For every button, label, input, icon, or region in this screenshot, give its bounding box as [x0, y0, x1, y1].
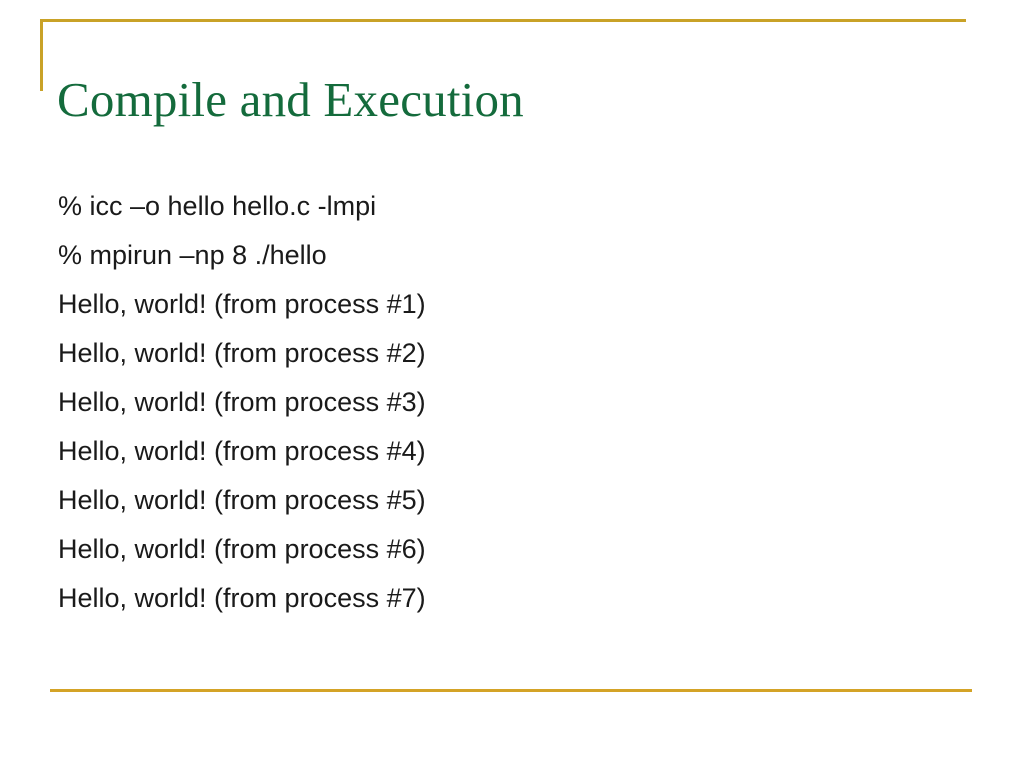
footer-rule [50, 689, 972, 692]
slide: Compile and Execution % icc –o hello hel… [0, 0, 1024, 768]
title-rule-top [40, 19, 966, 22]
title-rule-left [40, 19, 43, 91]
body-line-6: Hello, world! (from process #4) [58, 427, 958, 476]
body-line-4: Hello, world! (from process #2) [58, 329, 958, 378]
body-line-7: Hello, world! (from process #5) [58, 476, 958, 525]
body-line-8: Hello, world! (from process #6) [58, 525, 958, 574]
body-line-2: % mpirun –np 8 ./hello [58, 231, 958, 280]
page-title: Compile and Execution [57, 71, 957, 129]
body-line-1: % icc –o hello hello.c -lmpi [58, 182, 958, 231]
body-line-9: Hello, world! (from process #7) [58, 574, 958, 623]
body-line-5: Hello, world! (from process #3) [58, 378, 958, 427]
body-content: % icc –o hello hello.c -lmpi % mpirun –n… [58, 182, 958, 623]
body-line-3: Hello, world! (from process #1) [58, 280, 958, 329]
